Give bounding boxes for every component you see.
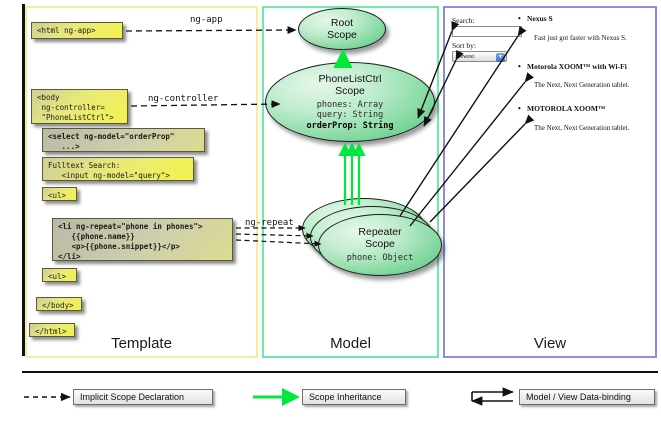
column-label-view: View	[445, 335, 655, 352]
view-search-input[interactable]	[452, 26, 522, 37]
view-phone-snippet-0: Fast just got faster with Nexus S.	[534, 34, 627, 42]
legend-item-implicit-scope-declaration: Implicit Scope Declaration	[73, 389, 213, 405]
column-label-template: Template	[27, 335, 256, 352]
scope-repeater-title-line2: Scope	[365, 238, 395, 250]
scope-repeater: Repeater Scope phone: Object	[318, 214, 442, 276]
scope-phonelistctrl-properties: phones: Array query: String orderProp: S…	[307, 100, 394, 132]
view-sort-selected-value: Newest	[456, 54, 474, 60]
chevron-down-icon: ▾	[496, 53, 505, 62]
edge-label-ng-repeat: ng-repeat	[245, 218, 294, 228]
scope-prop-query: query: String	[307, 110, 394, 121]
scope-root-title-line2: Scope	[327, 29, 357, 41]
legend-separator-rule	[22, 371, 658, 373]
legend-item-scope-inheritance: Scope Inheritance	[302, 389, 406, 405]
scope-prop-phone: phone: Object	[347, 253, 414, 264]
scope-repeater-properties: phone: Object	[347, 253, 414, 264]
code-box-ul-open: <ul>	[42, 187, 77, 201]
column-model: Model	[262, 6, 439, 358]
edge-label-ng-controller: ng-controller	[148, 94, 218, 104]
code-box-select: <select ng-model="orderProp" ...>	[42, 128, 205, 152]
code-box-search: Fulltext Search: <input ng-model="query"…	[42, 157, 194, 181]
scope-repeater-title-line1: Repeater	[358, 226, 401, 238]
scope-prop-phones: phones: Array	[307, 100, 394, 111]
code-box-html-close: </html>	[29, 323, 75, 337]
code-box-li-repeat: <li ng-repeat="phone in phones"> {{phone…	[52, 218, 233, 261]
view-phone-name-0: Nexus S	[527, 14, 553, 23]
scope-phonelistctrl: PhoneListCtrl Scope phones: Array query:…	[265, 62, 435, 142]
legend-arrow-databinding	[472, 392, 513, 401]
legend-item-model-view-databinding: Model / View Data-binding	[519, 389, 655, 405]
diagram-canvas: Template Model View <html ng-app> <body …	[0, 0, 661, 425]
view-phone-name-2: MOTOROLA XOOM™	[527, 104, 605, 113]
scope-phonelistctrl-title-line2: Scope	[335, 85, 365, 97]
view-phone-name-1: Motorola XOOM™ with Wi-Fi	[527, 62, 627, 71]
edge-label-ng-app: ng-app	[190, 15, 223, 25]
code-box-html: <html ng-app>	[31, 22, 123, 39]
scope-prop-orderprop: orderProp: String	[307, 121, 394, 132]
column-label-model: Model	[264, 335, 437, 352]
code-box-body-close: </body>	[36, 297, 82, 311]
scope-root: Root Scope	[298, 8, 386, 50]
view-sort-label: Sort by:	[452, 41, 476, 50]
code-box-body: <body ng-controller= "PhoneListCtrl">	[31, 89, 128, 124]
view-sort-select[interactable]: Newest ▾	[452, 51, 507, 62]
view-phone-snippet-1: The Next, Next Generation tablet.	[534, 81, 629, 89]
code-box-ul-close: <ul>	[42, 268, 77, 282]
view-search-label: Search:	[452, 16, 475, 25]
scope-phonelistctrl-title-line1: PhoneListCtrl	[318, 73, 381, 85]
view-phone-snippet-2: The Next, Next Generation tablet.	[534, 124, 629, 132]
scope-root-title-line1: Root	[331, 17, 353, 29]
